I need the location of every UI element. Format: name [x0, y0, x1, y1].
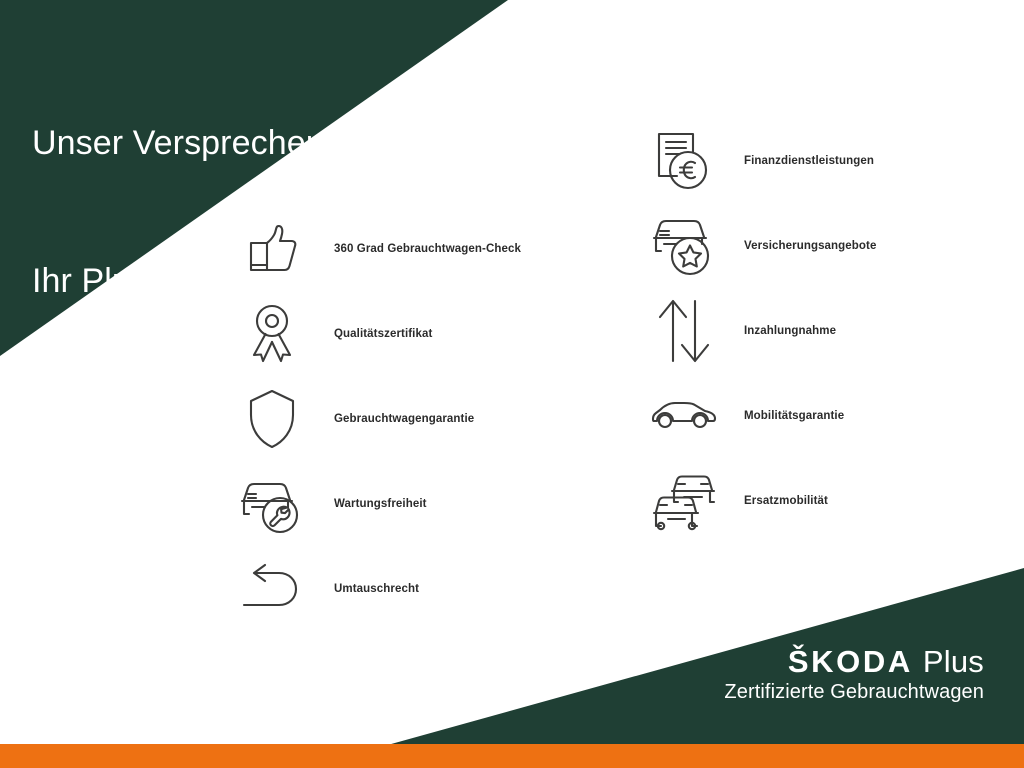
brand-plus-word: Plus	[923, 644, 984, 679]
feature-label: Wartungsfreiheit	[308, 498, 427, 510]
thumbs-up-icon	[236, 216, 308, 282]
feature-item-umtauschrecht[interactable]: Umtauschrecht	[236, 546, 566, 631]
document-euro-icon	[648, 128, 720, 194]
feature-item-versicherungsangebote[interactable]: Versicherungsangebote	[648, 203, 978, 288]
feature-item-ersatzmobilitaet[interactable]: Ersatzmobilität	[648, 458, 978, 543]
feature-item-finanzdienstleistungen[interactable]: Finanzdienstleistungen	[648, 118, 978, 203]
feature-item-qualitaetszertifikat[interactable]: Qualitätszertifikat	[236, 291, 566, 376]
feature-label: Ersatzmobilität	[720, 495, 828, 507]
feature-label: Gebrauchtwagengarantie	[308, 413, 474, 425]
feature-label: Inzahlungnahme	[720, 325, 836, 337]
feature-label: Finanzdienstleistungen	[720, 155, 874, 167]
shield-icon	[236, 386, 308, 452]
u-turn-arrow-icon	[236, 556, 308, 622]
feature-label: Qualitätszertifikat	[308, 328, 432, 340]
car-star-badge-icon	[648, 213, 720, 279]
feature-item-inzahlungnahme[interactable]: Inzahlungnahme	[648, 288, 978, 373]
brand-subline: Zertifizierte Gebrauchtwagen	[724, 679, 984, 706]
car-side-icon	[648, 383, 720, 449]
feature-item-wartungsfreiheit[interactable]: Wartungsfreiheit	[236, 461, 566, 546]
two-cars-icon	[648, 468, 720, 534]
feature-item-360-grad-gebrauchtwagen-check[interactable]: 360 Grad Gebrauchtwagen-Check	[236, 206, 566, 291]
up-down-arrows-icon	[648, 298, 720, 364]
skoda-wordmark: ŠKODA	[788, 644, 923, 679]
feature-list-right: Finanzdienstleistungen Versicherungsange…	[648, 118, 978, 543]
feature-item-mobilitaetsgarantie[interactable]: Mobilitätsgarantie	[648, 373, 978, 458]
feature-label: Umtauschrecht	[308, 583, 419, 595]
brand-title-line: ŠKODA Plus	[724, 645, 984, 678]
feature-list-left: 360 Grad Gebrauchtwagen-Check Qualitätsz…	[236, 206, 566, 631]
award-rosette-icon	[236, 301, 308, 367]
car-wrench-icon	[236, 471, 308, 537]
orange-footer-bar	[0, 744, 1024, 768]
feature-label: Versicherungsangebote	[720, 240, 876, 252]
feature-label: 360 Grad Gebrauchtwagen-Check	[308, 243, 521, 255]
slide-canvas: Unser Versprechen. Ihr Plus. 360 Grad Ge…	[0, 0, 1024, 768]
feature-label: Mobilitätsgarantie	[720, 410, 844, 422]
headline-line-1: Unser Versprechen.	[32, 120, 334, 166]
feature-item-gebrauchtwagengarantie[interactable]: Gebrauchtwagengarantie	[236, 376, 566, 461]
brand-lockup: ŠKODA Plus Zertifizierte Gebrauchtwagen	[724, 645, 984, 706]
